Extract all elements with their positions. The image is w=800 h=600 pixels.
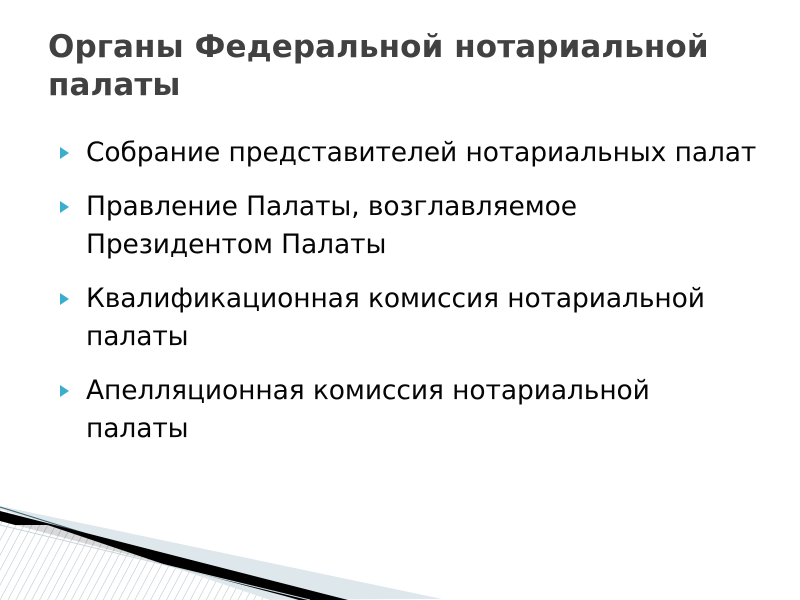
list-item-label: Правление Палаты, возглавляемое Президен… xyxy=(86,188,760,264)
title-block: Органы Федеральной нотариальной палаты xyxy=(48,28,748,104)
list-item-label: Собрание представителей нотариальных пал… xyxy=(86,134,760,172)
triangle-bullet-icon xyxy=(60,201,69,213)
list-item: Собрание представителей нотариальных пал… xyxy=(54,134,760,172)
list-item: Правление Палаты, возглавляемое Президен… xyxy=(54,188,760,264)
triangle-bullet-icon xyxy=(60,293,69,305)
decoration-edge-line xyxy=(0,507,300,600)
corner-decoration-graphic xyxy=(0,495,800,600)
list-item: Апелляционная комиссия нотариальной пала… xyxy=(54,372,760,448)
slide-canvas: Органы Федеральной нотариальной палаты С… xyxy=(0,0,800,600)
decoration-blue-band xyxy=(0,506,442,600)
triangle-bullet-icon xyxy=(60,385,69,397)
list-item-label: Квалификационная комиссия нотариальной п… xyxy=(86,280,760,356)
triangle-bullet-icon xyxy=(60,147,69,159)
list-item-label: Апелляционная комиссия нотариальной пала… xyxy=(86,372,760,448)
page-title: Органы Федеральной нотариальной палаты xyxy=(48,28,748,104)
decoration-black-wedge xyxy=(0,511,348,600)
list-item: Квалификационная комиссия нотариальной п… xyxy=(54,280,760,356)
bullet-list: Собрание представителей нотариальных пал… xyxy=(54,134,760,448)
